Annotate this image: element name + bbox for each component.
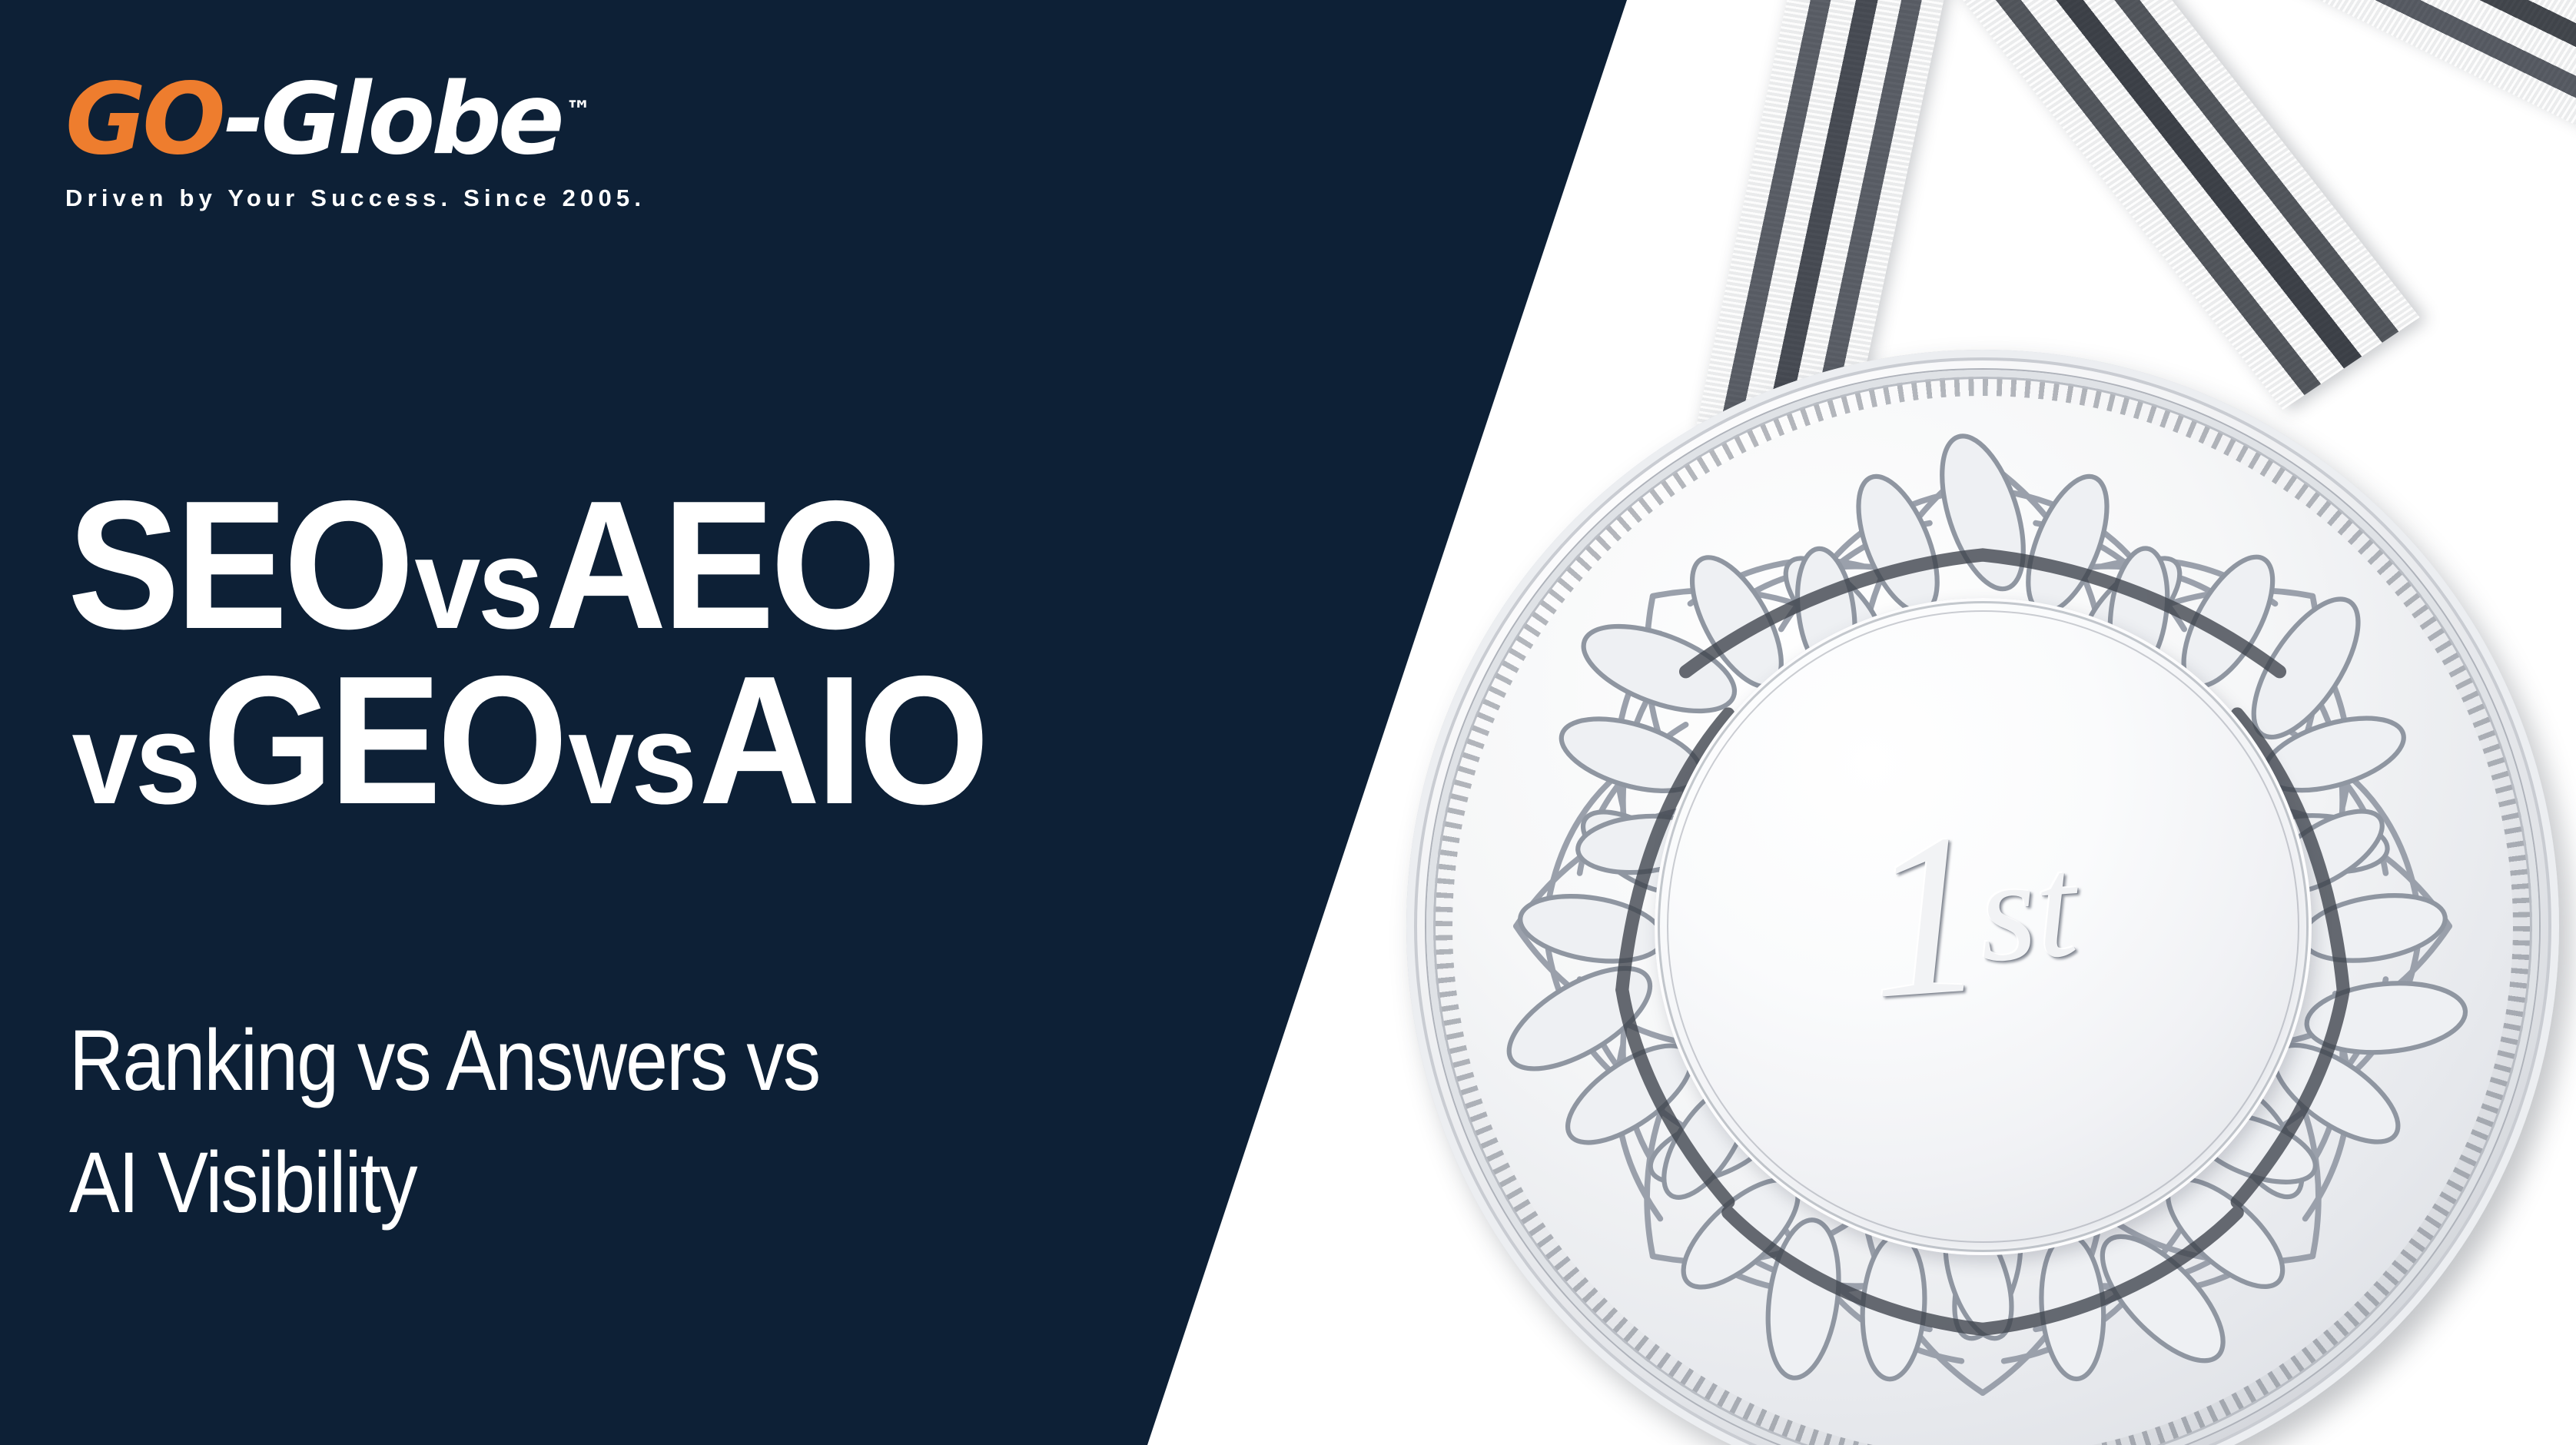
title-line-1: SEOvsAEO bbox=[68, 478, 985, 653]
trademark-icon: ™ bbox=[566, 95, 592, 126]
logo-go-text: GO bbox=[65, 62, 224, 177]
title-vs-1: vs bbox=[410, 511, 546, 656]
medal-rank-ordinal: st bbox=[1973, 822, 2082, 995]
medal-rank-label: 1st bbox=[1622, 562, 2323, 1264]
medal-rank-number: 1 bbox=[1859, 779, 1988, 1051]
page-subtitle: Ranking vs Answers vs AI Visibility bbox=[69, 999, 922, 1244]
title-aio: AIO bbox=[699, 639, 985, 842]
title-vs-3: vs bbox=[564, 686, 699, 831]
go-globe-logo[interactable]: GO-Globe™ Driven by Your Success. Since … bbox=[65, 71, 646, 212]
logo-globe-text: -Globe bbox=[224, 62, 560, 177]
title-aeo: AEO bbox=[545, 463, 897, 667]
subtitle-line-2: AI Visibility bbox=[69, 1121, 819, 1244]
ribbon-strap-right bbox=[1950, 0, 2419, 410]
title-geo: GEO bbox=[203, 639, 564, 842]
title-line-2: vsGEOvsAIO bbox=[68, 653, 985, 829]
page-title: SEOvsAEO vsGEOvsAIO bbox=[68, 478, 1065, 829]
subtitle-line-1: Ranking vs Answers vs bbox=[69, 999, 819, 1121]
logo-wordmark: GO-Globe™ bbox=[65, 71, 646, 169]
logo-tagline: Driven by Your Success. Since 2005. bbox=[65, 184, 646, 212]
medal-center-plate: 1st bbox=[1655, 598, 2312, 1255]
slide-canvas: 1st GO-Globe™ Driven by Your Success. Si… bbox=[0, 0, 2576, 1445]
title-seo: SEO bbox=[68, 463, 410, 667]
title-vs-2: vs bbox=[68, 686, 203, 831]
medal: 1st bbox=[1406, 350, 2559, 1445]
